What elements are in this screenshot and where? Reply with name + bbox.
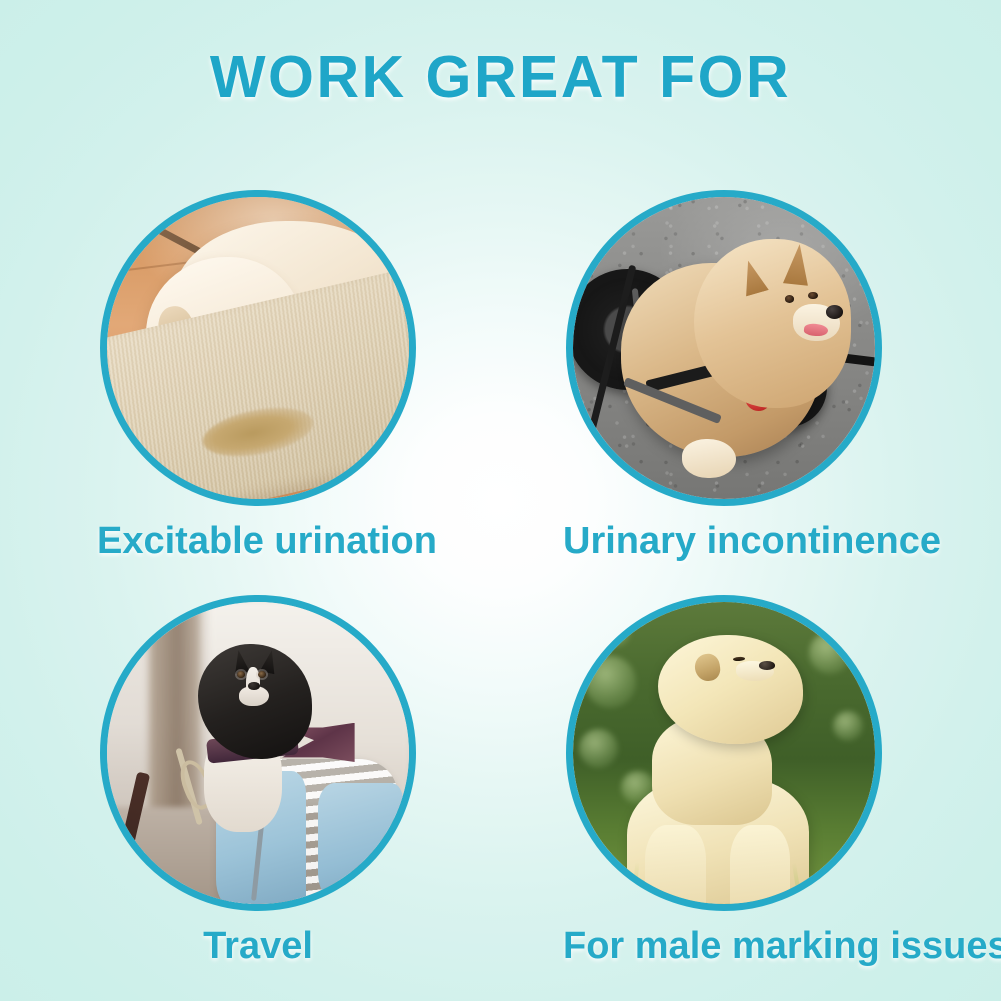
blue-jacket-panel [318,783,403,904]
corgi-nose [826,305,843,319]
photo-circle-male-marking [566,595,882,911]
feature-card-travel: Travel [97,595,419,969]
porch-background [107,602,409,904]
card-caption-male-marking: For male marking issues [563,925,885,969]
bokeh-light [833,711,863,741]
feature-card-male-marking: For male marking issues [563,595,885,969]
asphalt-background [573,197,875,499]
wood-floor-background [107,197,409,499]
bokeh-light [809,632,851,674]
bokeh-light [585,656,636,707]
labrador-leg [645,825,705,904]
card-caption-excitable-urination: Excitable urination [97,520,419,564]
labrador-ear [693,652,721,682]
bokeh-light [603,620,630,647]
labrador-eye [733,657,745,661]
marketing-infographic: WORK GREAT FOR [0,0,1001,1001]
labrador-nose [759,661,775,670]
bokeh-light [579,729,618,768]
corgi-wheelchair-photo [573,197,875,499]
grass-blade [594,862,605,904]
page-title: WORK GREAT FOR [0,48,1001,107]
feature-card-urinary-incontinence: Urinary incontinence [563,190,885,564]
corgi-eye [808,292,817,300]
photo-circle-travel [100,595,416,911]
puppy-on-floor-photo [107,197,409,499]
photo-circle-excitable-urination [100,190,416,506]
corgi-head [694,239,851,408]
photo-circle-urinary-incontinence [566,190,882,506]
card-caption-urinary-incontinence: Urinary incontinence [563,520,885,564]
corgi-paw [682,439,736,478]
terrier-eye [237,671,245,678]
corgi-ear [783,243,812,286]
corgi-eye [785,295,794,303]
grass-field-background [573,602,875,904]
corgi-ear [737,257,769,296]
terrier-jacket-photo [107,602,409,904]
labrador-leg [730,825,790,904]
card-caption-travel: Travel [97,925,419,969]
labrador-grass-photo [573,602,875,904]
grass-blade [830,862,840,904]
terrier-eye [258,671,266,678]
page-title-bar: WORK GREAT FOR [0,48,1001,107]
grass-blade [849,862,857,904]
feature-card-excitable-urination: Excitable urination [97,190,419,564]
terrier-nose [248,682,259,690]
